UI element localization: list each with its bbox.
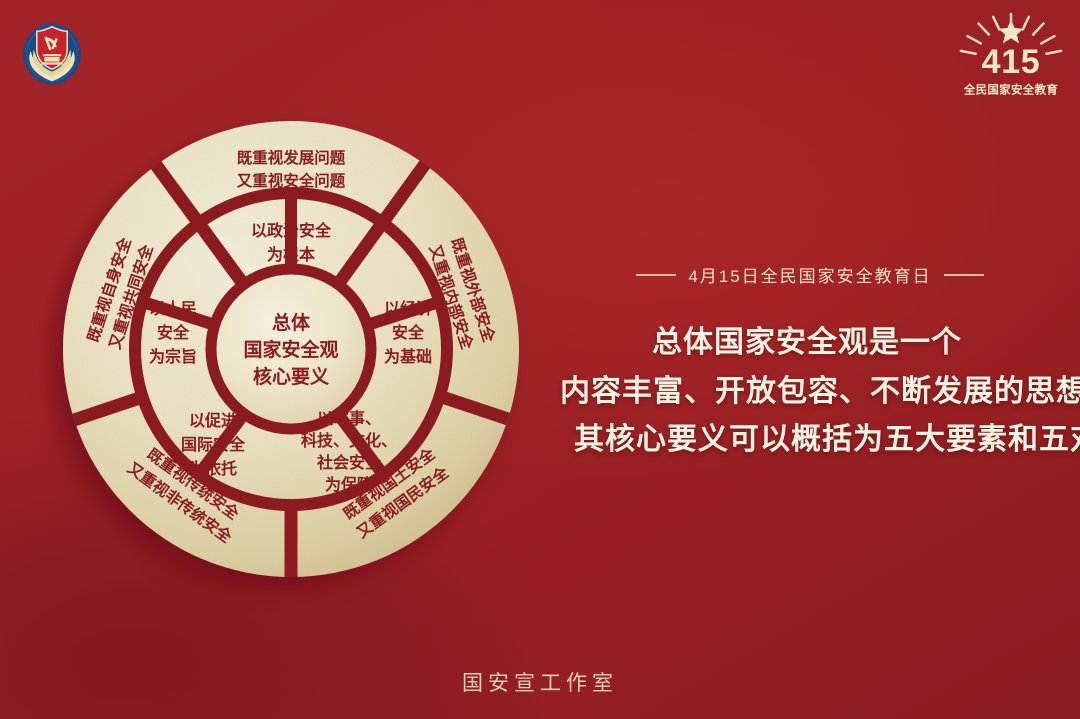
poster-canvas: 415 全民国家安全教育 — [0, 0, 1080, 719]
logo-415-number: 415 — [982, 43, 1041, 81]
inner-economy-line-2: 安全 — [392, 323, 425, 342]
national-security-day-415-logo: 415 全民国家安全教育 — [952, 8, 1070, 104]
logo-415-subtitle: 全民国家安全教育 — [963, 83, 1058, 97]
inner-intl-line-2: 国际安全 — [181, 435, 246, 454]
rule-left-icon — [636, 274, 676, 276]
inner-segment-international[interactable]: 以促进 国际安全 为依托 — [181, 411, 246, 478]
studio-credit: 国安宣工作室 — [0, 667, 1080, 697]
headline-line-1: 总体国家安全观是一个 — [560, 319, 1060, 368]
police-emblem — [14, 16, 90, 92]
inner-economy-line-3: 为基础 — [384, 347, 432, 366]
inner-military-line-1: 以军事、 — [317, 410, 381, 428]
headline-block: 4月15日全民国家安全教育日 总体国家安全观是一个 内容丰富、开放包容、不断发展… — [560, 262, 1060, 465]
security-concept-wheel: 总体 国家安全观 核心要义 以政治安全 为根本 以经济 安全 为基础 — [56, 114, 526, 584]
rule-right-icon — [944, 274, 984, 276]
inner-politics-line-2: 为根本 — [267, 245, 315, 264]
inner-people-line-2: 安全 — [157, 323, 190, 342]
inner-military-line-2: 科技、文化、 — [301, 431, 397, 450]
outer-dev-line-1: 既重视发展问题 — [237, 148, 346, 167]
center-line-2: 国家安全观 — [243, 338, 338, 361]
inner-intl-line-1: 以促进 — [189, 411, 237, 430]
headline: 总体国家安全观是一个 内容丰富、开放包容、不断发展的思想体系， 其核心要义可以概… — [560, 319, 1060, 465]
inner-people-line-1: 以人民 — [149, 300, 197, 318]
outer-dev-line-2: 又重视安全问题 — [236, 171, 346, 190]
eyebrow-row: 4月15日全民国家安全教育日 — [560, 262, 1060, 287]
headline-line-2: 内容丰富、开放包容、不断发展的思想体系， — [560, 368, 1060, 417]
eyebrow-text: 4月15日全民国家安全教育日 — [688, 262, 931, 287]
headline-line-3: 其核心要义可以概括为五大要素和五对关系。 — [560, 416, 1060, 465]
center-line-3: 核心要义 — [253, 365, 329, 388]
inner-economy-line-1: 以经济 — [384, 299, 433, 318]
inner-military-line-3: 社会安全 — [316, 453, 382, 472]
center-line-1: 总体 — [272, 311, 311, 334]
inner-intl-line-3: 为依托 — [189, 459, 237, 478]
inner-people-line-3: 为宗旨 — [149, 347, 197, 366]
inner-politics-line-1: 以政治安全 — [251, 221, 332, 240]
